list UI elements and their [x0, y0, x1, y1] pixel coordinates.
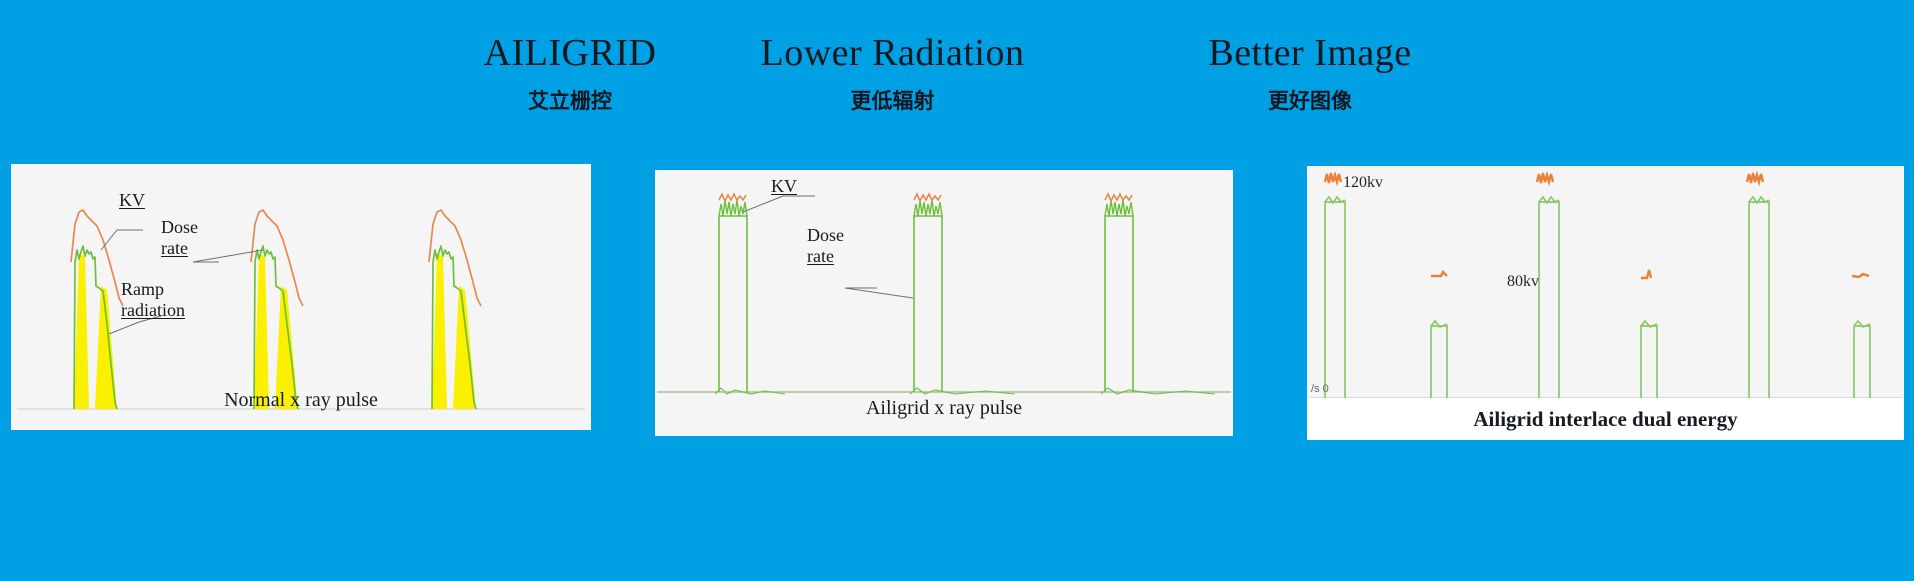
annotation-kv-normal: KV — [119, 190, 145, 211]
header-group-lower-radiation: Lower Radiation 更低辐射 — [620, 30, 1165, 115]
chart-panel-ailigrid-pulse: KV Dose rate Ailigrid x ray pulse — [655, 170, 1233, 436]
annotation-dose-rate-ailigrid: Dose rate — [807, 225, 844, 267]
header-title-zh-1: 更低辐射 — [620, 87, 1165, 115]
annotation-kv-ailigrid-text: KV — [771, 176, 797, 196]
header-title-zh-2: 更好图像 — [1090, 87, 1530, 115]
annotation-dose-rate-normal: Dose rate — [161, 217, 198, 259]
annotation-ramp-radiation-line1: Ramp — [121, 279, 164, 299]
annotation-kv-ailigrid: KV — [771, 176, 797, 197]
annotation-dose-rate-normal-line1: Dose — [161, 217, 198, 237]
annotation-kv-normal-text: KV — [119, 190, 145, 210]
annotation-dose-rate-ailigrid-line2: rate — [807, 246, 834, 266]
legend-item-80kv: 80kv — [1507, 273, 1539, 291]
panel-caption-ailigrid: Ailigrid x ray pulse — [655, 397, 1233, 420]
annotation-ramp-radiation-line2: radiation — [121, 300, 185, 320]
header-group-better-image: Better Image 更好图像 — [1090, 30, 1530, 115]
header-title-en-2: Better Image — [1090, 30, 1530, 76]
annotation-ramp-radiation: Ramp radiation — [121, 279, 185, 321]
axis-label-dual-energy: /s 0 — [1311, 383, 1329, 395]
page-header: AILIGRID 艾立栅控 Lower Radiation 更低辐射 Bette… — [0, 0, 1914, 160]
chart-panel-dual-energy: 120kv 80kv /s 0 Ailigrid interlace dual … — [1307, 166, 1904, 440]
header-title-en-1: Lower Radiation — [620, 30, 1165, 76]
legend-label-120kv: 120kv — [1343, 174, 1383, 191]
panel-caption-normal: Normal x ray pulse — [11, 389, 591, 412]
annotation-dose-rate-normal-line2: rate — [161, 238, 188, 258]
chart-panel-normal-pulse: KV Dose rate Ramp radiation Normal x ray… — [11, 164, 591, 430]
legend-item-120kv: 120kv — [1343, 174, 1383, 192]
legend-label-80kv: 80kv — [1507, 273, 1539, 290]
panel-caption-dual-energy: Ailigrid interlace dual energy — [1307, 407, 1904, 432]
annotation-dose-rate-ailigrid-line1: Dose — [807, 225, 844, 245]
